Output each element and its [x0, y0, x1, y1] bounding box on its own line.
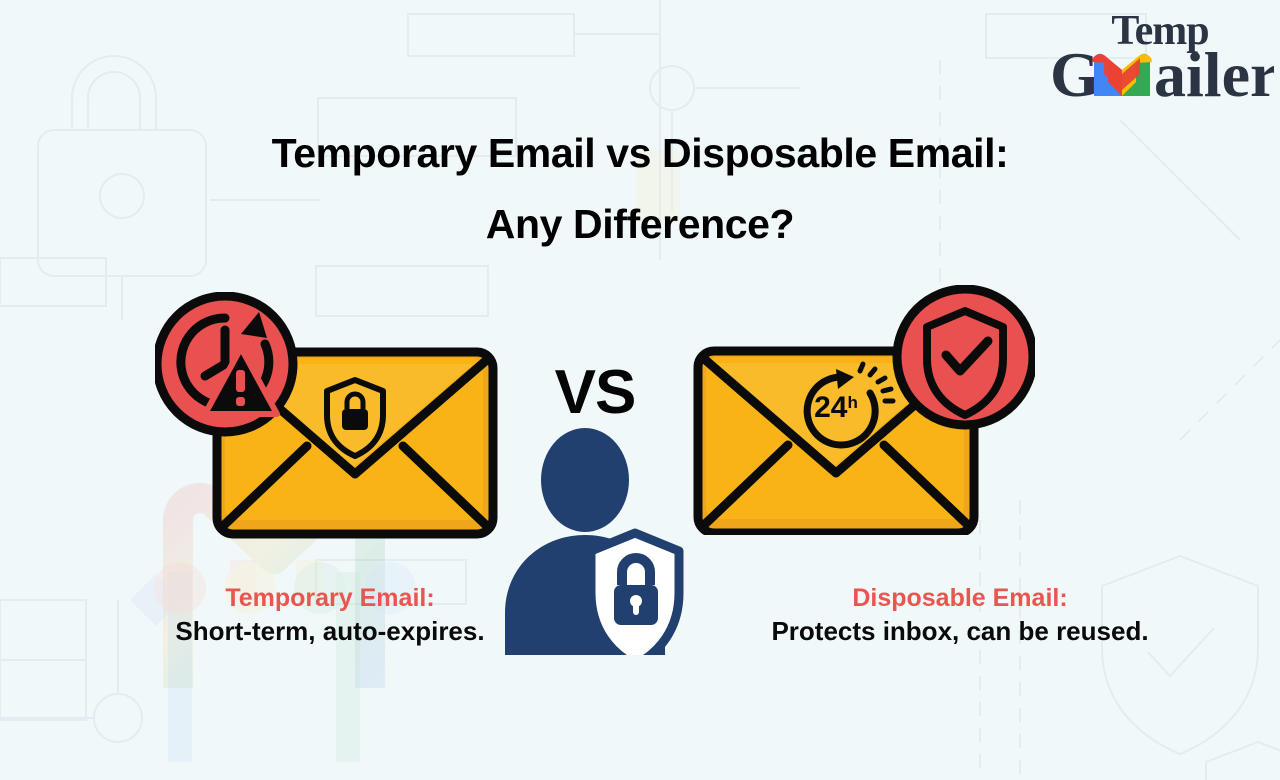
disposable-email-caption: Disposable Email: Protects inbox, can be…	[660, 582, 1260, 650]
infographic-canvas: Temp G ailer Temporary Email vs Disposab…	[0, 0, 1280, 780]
disposable-email-caption-text: Protects inbox, can be reused.	[660, 614, 1260, 650]
shield-check-badge	[897, 289, 1033, 425]
page-title-line-2: Any Difference?	[0, 189, 1280, 260]
gmail-m-icon	[1092, 54, 1152, 96]
versus-label: VS	[520, 362, 670, 424]
shield-check-icon	[927, 311, 1003, 415]
temporary-email-caption-text: Short-term, auto-expires.	[30, 614, 630, 650]
temporary-email-illustration	[155, 292, 500, 542]
shield-outline-icon-2	[1206, 742, 1280, 780]
temporary-email-caption: Temporary Email: Short-term, auto-expire…	[30, 582, 630, 650]
clock-warning-badge	[157, 296, 293, 432]
temporary-email-caption-heading: Temporary Email:	[30, 582, 630, 614]
logo-g-text: G	[1050, 39, 1100, 104]
disposable-email-illustration: 24h	[690, 285, 1035, 535]
page-title: Temporary Email vs Disposable Email: Any…	[0, 118, 1280, 259]
logo-ailer-text: ailer	[1154, 39, 1274, 104]
brand-logo[interactable]: Temp G ailer	[1048, 4, 1274, 104]
page-title-line-1: Temporary Email vs Disposable Email:	[0, 118, 1280, 189]
disposable-email-caption-heading: Disposable Email:	[660, 582, 1260, 614]
